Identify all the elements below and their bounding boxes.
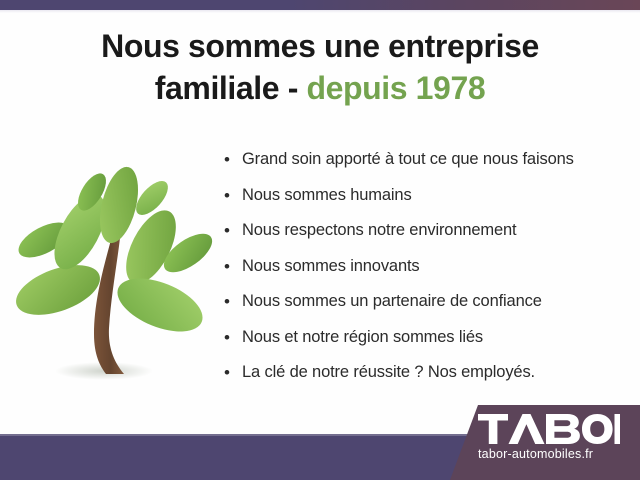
list-item: • Nous sommes innovants [224,257,632,277]
list-item: • Nous sommes humains [224,186,632,206]
brand-logo[interactable]: tabor-automobiles.fr [478,414,628,474]
page-title: Nous sommes une entreprise familiale - d… [0,26,640,109]
bullet-marker-icon: • [224,363,242,383]
bullet-marker-icon: • [224,150,242,170]
list-item: • La clé de notre réussite ? Nos employé… [224,363,632,383]
list-item-label: Nous respectons notre environnement [242,221,632,240]
list-item-label: Grand soin apporté à tout ce que nous fa… [242,150,632,169]
bullet-marker-icon: • [224,186,242,206]
list-item: • Nous sommes un partenaire de confiance [224,292,632,312]
headline-line-2-plain: familiale - [155,70,307,106]
headline-line-2-accent: depuis 1978 [306,70,485,106]
slide-canvas: Nous sommes une entreprise familiale - d… [0,0,640,480]
bullet-marker-icon: • [224,221,242,241]
list-item-label: La clé de notre réussite ? Nos employés. [242,363,632,382]
tree-trunk [94,236,124,374]
green-tree-illustration [8,150,218,390]
value-proposition-list: • Grand soin apporté à tout ce que nous … [224,150,632,383]
headline-line-1: Nous sommes une entreprise [101,28,539,64]
tree-leaf [110,268,210,343]
top-accent-bar-shadow [0,10,640,13]
tabor-wordmark-icon [478,414,620,444]
bullet-marker-icon: • [224,328,242,348]
list-item: • Nous respectons notre environnement [224,221,632,241]
list-item: • Grand soin apporté à tout ce que nous … [224,150,632,170]
logo-tagline: tabor-automobiles.fr [478,447,628,461]
list-item-label: Nous et notre région sommes liés [242,328,632,347]
bullet-marker-icon: • [224,292,242,312]
top-accent-bar [0,0,640,10]
list-item: • Nous et notre région sommes liés [224,328,632,348]
list-item-label: Nous sommes humains [242,186,632,205]
list-item-label: Nous sommes innovants [242,257,632,276]
list-item-label: Nous sommes un partenaire de confiance [242,292,632,311]
bullet-marker-icon: • [224,257,242,277]
